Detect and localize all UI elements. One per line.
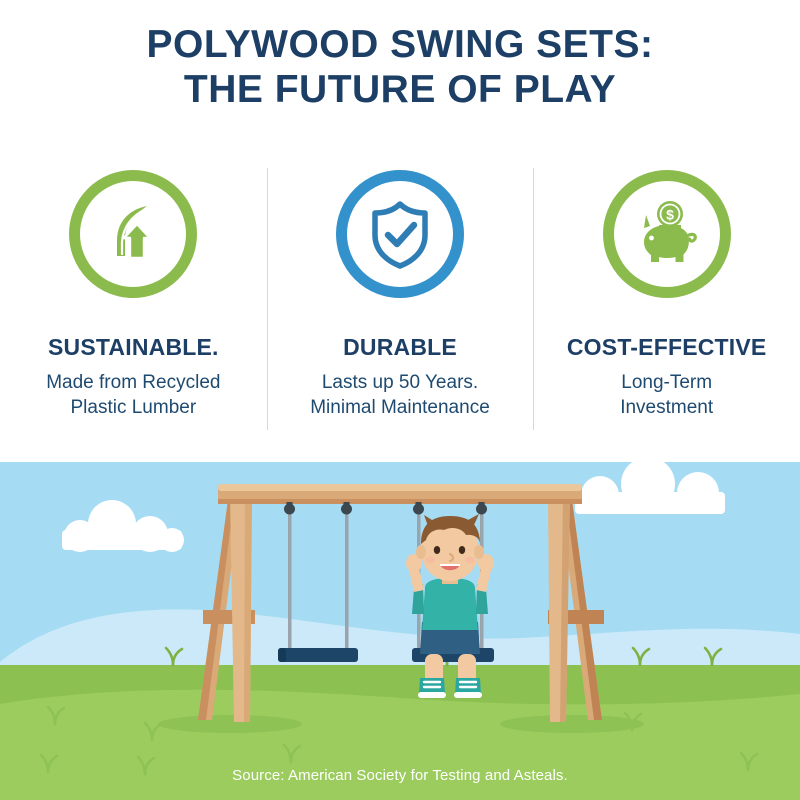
feature-description: Made from Recycled Plastic Lumber: [46, 370, 220, 420]
feature-list: SUSTAINABLE. Made from Recycled Plastic …: [0, 160, 800, 450]
ear-right: [474, 545, 484, 559]
page-title-line-1: POLYWOOD SWING SETS:: [0, 22, 800, 67]
feature-description: Long-Term Investment: [620, 370, 713, 420]
svg-text:$: $: [666, 207, 674, 223]
feature-description-line-1: Lasts up 50 Years.: [310, 370, 490, 395]
feature-description-line-2: Minimal Maintenance: [310, 395, 490, 420]
shoe-right: [454, 678, 482, 698]
eye-left: [434, 546, 440, 554]
feature-description-line-1: Made from Recycled: [46, 370, 220, 395]
feature-description-line-1: Long-Term: [620, 370, 713, 395]
shirt: [422, 578, 478, 630]
feature-description-line-2: Investment: [620, 395, 713, 420]
eye-right: [459, 546, 465, 554]
shield-check-icon: [336, 170, 464, 298]
feature-cost-effective: $ COST-EFFECTIVE Long-Term Investment: [533, 160, 800, 450]
post-shadow-right: [500, 715, 644, 733]
shoe-left: [418, 678, 446, 698]
swing-set-illustration: Source: American Society for Testing and…: [0, 462, 800, 800]
post-shadow-left: [158, 715, 302, 733]
page-title: POLYWOOD SWING SETS: THE FUTURE OF PLAY: [0, 22, 800, 112]
ear-left: [416, 545, 426, 559]
page-title-line-2: THE FUTURE OF PLAY: [0, 67, 800, 112]
feature-description-line-2: Plastic Lumber: [46, 395, 220, 420]
feature-durable: DURABLE Lasts up 50 Years. Minimal Maint…: [267, 160, 534, 450]
cheek-right: [465, 557, 475, 564]
feature-description: Lasts up 50 Years. Minimal Maintenance: [310, 370, 490, 420]
feature-heading: DURABLE: [343, 334, 457, 361]
source-caption: Source: American Society for Testing and…: [0, 766, 800, 786]
cheek-left: [425, 557, 435, 564]
piggy-bank-icon: $: [603, 170, 731, 298]
feature-heading: SUSTAINABLE.: [48, 334, 219, 361]
feature-sustainable: SUSTAINABLE. Made from Recycled Plastic …: [0, 160, 267, 450]
feature-heading: COST-EFFECTIVE: [567, 334, 767, 361]
swing-seat-empty: [278, 648, 358, 662]
infographic-page: POLYWOOD SWING SETS: THE FUTURE OF PLAY …: [0, 0, 800, 800]
leaf-arrow-icon: [69, 170, 197, 298]
